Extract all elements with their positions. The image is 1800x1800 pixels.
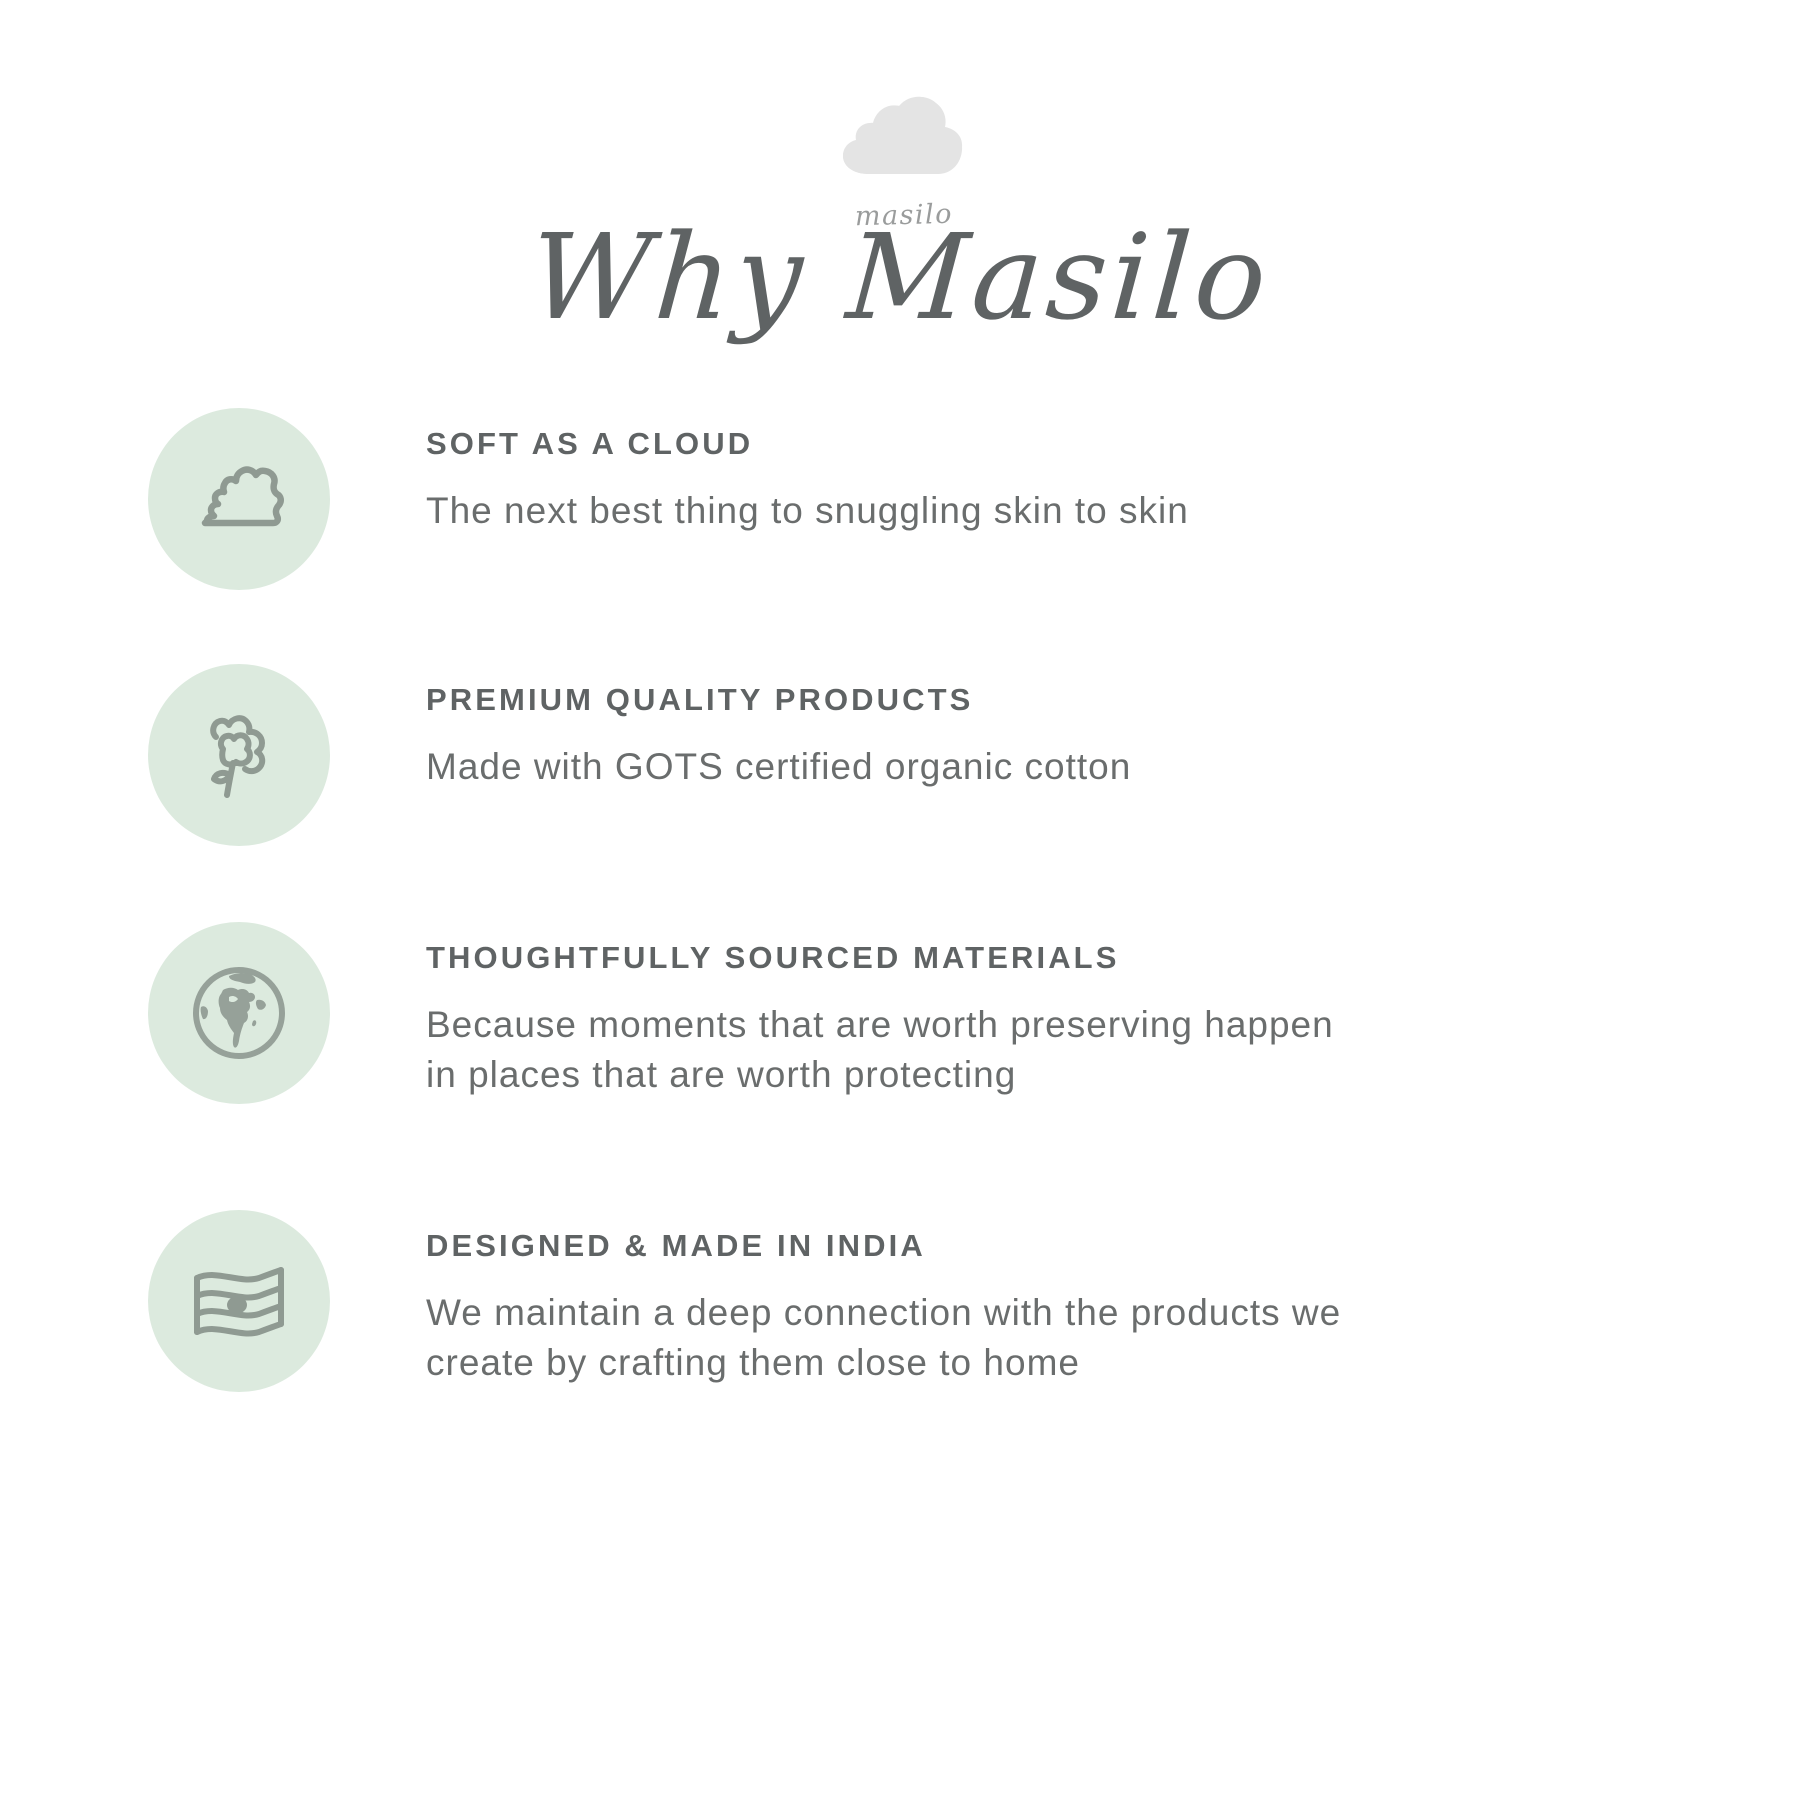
feature-heading: DESIGNED & MADE IN INDIA [426,1228,1360,1264]
cotton-flower-icon-badge [148,664,330,846]
feature-heading: PREMIUM QUALITY PRODUCTS [426,682,1390,718]
feature-item-soft-as-a-cloud: SOFT AS A CLOUD The next best thing to s… [0,392,1800,648]
feature-heading: SOFT AS A CLOUD [426,426,1390,462]
india-flag-icon-badge [148,1210,330,1392]
feature-heading: THOUGHTFULLY SOURCED MATERIALS [426,940,1360,976]
feature-body: The next best thing to snuggling skin to… [426,486,1390,536]
cloud-icon-badge [148,408,330,590]
feature-list: SOFT AS A CLOUD The next best thing to s… [0,392,1800,1494]
cloud-icon [187,447,291,551]
cloud-logo-icon [825,78,975,178]
feature-item-designed-and-made-in-india: DESIGNED & MADE IN INDIA We maintain a d… [0,1194,1800,1494]
feature-text-block: PREMIUM QUALITY PRODUCTS Made with GOTS … [330,648,1390,792]
feature-text-block: THOUGHTFULLY SOURCED MATERIALS Because m… [330,906,1360,1099]
feature-item-thoughtfully-sourced-materials: THOUGHTFULLY SOURCED MATERIALS Because m… [0,906,1800,1194]
feature-body: We maintain a deep connection with the p… [426,1288,1360,1387]
feature-text-block: SOFT AS A CLOUD The next best thing to s… [330,392,1390,536]
brand-logo: masilo [0,78,1800,178]
india-flag-icon [185,1256,293,1346]
globe-icon [185,959,293,1067]
feature-body: Because moments that are worth preservin… [426,1000,1360,1099]
feature-body: Made with GOTS certified organic cotton [426,742,1390,792]
page-title: Why Masilo [0,216,1800,340]
globe-icon-badge [148,922,330,1104]
feature-text-block: DESIGNED & MADE IN INDIA We maintain a d… [330,1194,1360,1387]
cotton-flower-icon [189,703,289,807]
feature-item-premium-quality-products: PREMIUM QUALITY PRODUCTS Made with GOTS … [0,648,1800,906]
